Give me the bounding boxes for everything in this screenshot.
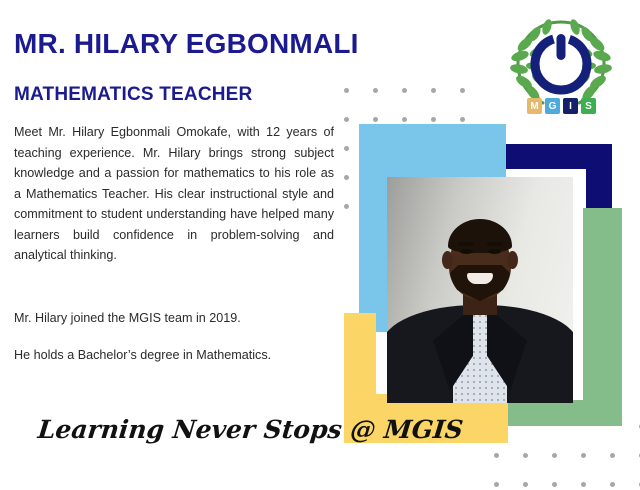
teacher-profile-slide: M G I S MR. HILARY EGBONMALI MATHEMATICS… <box>0 0 640 490</box>
decor-dot <box>523 482 528 487</box>
decor-block-navy-side <box>586 144 612 210</box>
decor-dot <box>344 175 349 180</box>
teacher-portrait-photo <box>387 177 573 403</box>
decor-dot <box>431 88 436 93</box>
portrait-ear-right <box>507 251 518 269</box>
portrait-hair <box>448 219 512 253</box>
mgis-tile-i: I <box>563 98 578 114</box>
decor-dot <box>610 453 615 458</box>
decor-dot <box>431 117 436 122</box>
decor-dot <box>344 204 349 209</box>
decor-dot <box>552 482 557 487</box>
decor-dot <box>373 117 378 122</box>
teacher-role-title: MATHEMATICS TEACHER <box>14 84 252 106</box>
teacher-bio-paragraph: Meet Mr. Hilary Egbonmali Omokafe, with … <box>14 122 334 266</box>
decor-dot <box>402 88 407 93</box>
decor-dot <box>373 88 378 93</box>
decor-dot <box>581 482 586 487</box>
teacher-joined-text: Mr. Hilary joined the MGIS team in 2019. <box>14 308 344 328</box>
decor-dot <box>344 146 349 151</box>
teacher-name-title: MR. HILARY EGBONMALI <box>14 28 359 60</box>
decor-dot <box>610 482 615 487</box>
portrait-eye-left <box>460 249 473 254</box>
decor-dot <box>344 117 349 122</box>
school-tagline: Learning Never Stops @ MGIS <box>36 415 464 444</box>
decor-dot <box>581 453 586 458</box>
mgis-letter-tiles: M G I S <box>527 98 596 114</box>
portrait-eyebrow-left <box>458 242 474 246</box>
decor-dot <box>402 117 407 122</box>
decor-dot <box>552 453 557 458</box>
decor-block-green-horizontal <box>505 400 622 426</box>
mgis-tile-m: M <box>527 98 542 114</box>
portrait-ear-left <box>442 251 453 269</box>
power-button-icon <box>535 34 587 90</box>
mgis-tile-s: S <box>581 98 596 114</box>
decor-dot <box>523 453 528 458</box>
decor-block-green-vertical <box>583 208 622 426</box>
decor-dot <box>344 88 349 93</box>
decor-dot <box>494 453 499 458</box>
teacher-degree-text: He holds a Bachelor’s degree in Mathemat… <box>14 345 344 365</box>
portrait-eye-right <box>488 249 501 254</box>
decor-dot <box>494 482 499 487</box>
mgis-tile-g: G <box>545 98 560 114</box>
portrait-mouth <box>467 273 493 284</box>
portrait-eyebrow-right <box>487 242 503 246</box>
decor-dot <box>460 117 465 122</box>
decor-dot <box>460 88 465 93</box>
